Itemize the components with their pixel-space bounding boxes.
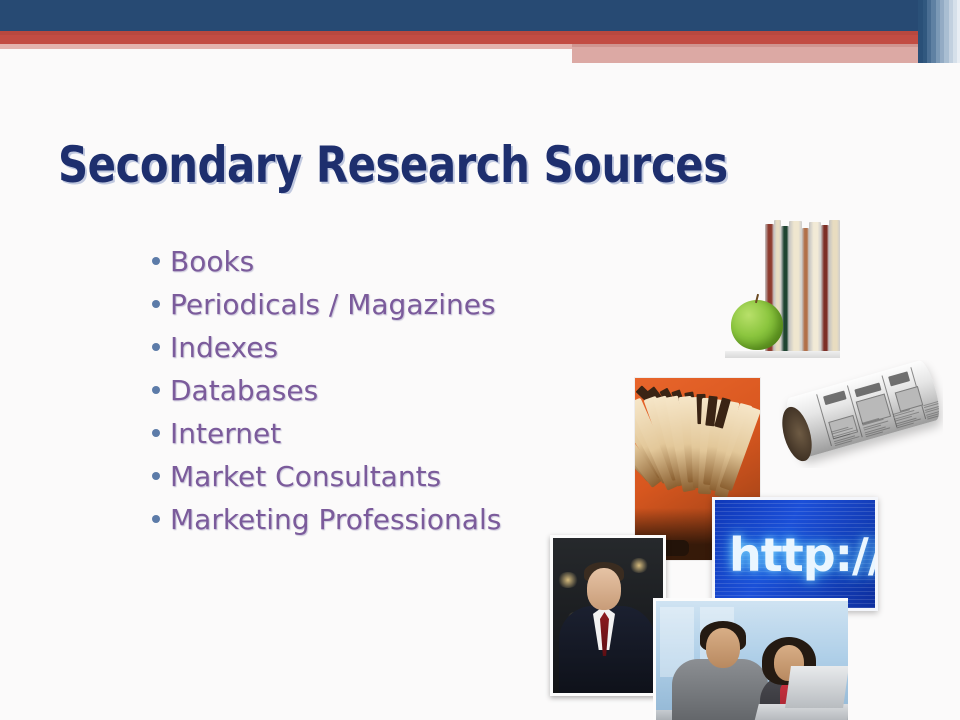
list-item-label: Indexes	[170, 331, 278, 364]
newspaper-headline	[823, 390, 847, 405]
banner-pink-edge	[572, 44, 960, 47]
list-item-label: Marketing Professionals	[170, 503, 501, 536]
newspaper-headline	[888, 371, 910, 386]
book	[829, 220, 840, 352]
bokeh-light	[629, 558, 649, 573]
http-screen-photo: http://	[712, 497, 878, 611]
green-apple	[731, 300, 783, 350]
list-item-label: Market Consultants	[170, 460, 441, 493]
banner-white-step	[0, 49, 572, 70]
bullet-dot-icon	[152, 343, 160, 351]
list-item: Internet	[152, 412, 501, 455]
list-item-label: Books	[170, 245, 254, 278]
banner-red-shadow	[0, 31, 960, 35]
list-item: Indexes	[152, 326, 501, 369]
newspaper-roll-photo	[778, 360, 943, 468]
bullet-list: Books Periodicals / Magazines Indexes Da…	[152, 240, 501, 541]
book	[781, 226, 789, 352]
bullet-dot-icon	[152, 257, 160, 265]
list-item-label: Periodicals / Magazines	[170, 288, 496, 321]
newspaper-photo-box	[895, 386, 924, 412]
slide-header-banner	[0, 0, 960, 70]
slide: Secondary Research Sources Books Periodi…	[0, 0, 960, 720]
book-shelf-surface	[725, 351, 840, 358]
list-item-label: Databases	[170, 374, 318, 407]
laptop-screen	[785, 666, 848, 708]
businessman-face	[587, 568, 621, 610]
bullet-dot-icon	[152, 386, 160, 394]
businessman-photo	[550, 535, 666, 696]
bullet-dot-icon	[152, 515, 160, 523]
book	[789, 221, 802, 352]
http-label: http://	[729, 528, 878, 582]
list-item: Books	[152, 240, 501, 283]
two-professionals-laptop-photo	[653, 598, 848, 720]
list-item-label: Internet	[170, 417, 281, 450]
bullet-dot-icon	[152, 429, 160, 437]
page-title: Secondary Research Sources	[58, 136, 728, 194]
banner-stripe-accents	[918, 0, 960, 63]
bullet-dot-icon	[152, 472, 160, 480]
list-item: Market Consultants	[152, 455, 501, 498]
image-collage: http://	[540, 210, 960, 720]
book	[809, 222, 821, 352]
book	[802, 228, 809, 352]
banner-navy-band	[0, 0, 960, 31]
list-item: Periodicals / Magazines	[152, 283, 501, 326]
bokeh-light	[557, 572, 579, 588]
list-item: Databases	[152, 369, 501, 412]
books-and-apple-photo	[725, 220, 840, 360]
book	[821, 225, 829, 352]
bullet-dot-icon	[152, 300, 160, 308]
man-gray-suit	[672, 659, 768, 720]
list-item: Marketing Professionals	[152, 498, 501, 541]
man-face	[706, 628, 740, 668]
